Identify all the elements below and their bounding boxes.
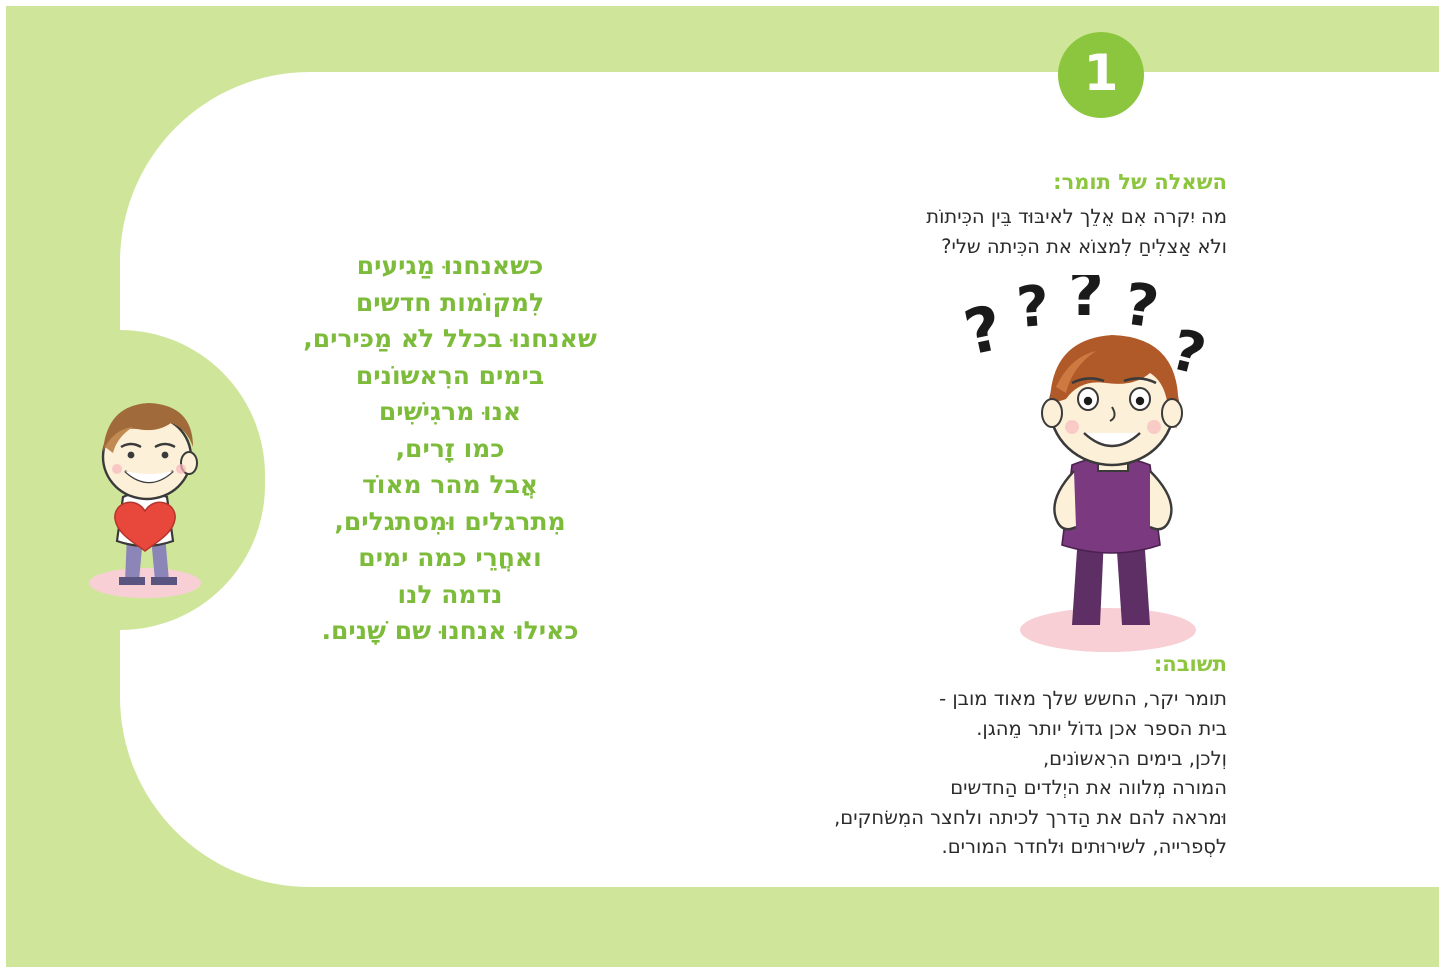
- page-root: 1: [0, 0, 1445, 973]
- poem-line-6: כמו זָרים,: [300, 431, 600, 468]
- boy-with-question-marks-illustration: ? ? ? ? ?: [960, 275, 1270, 665]
- question-line-1: מה יִקרה אִם אֵלֵך לאיבּוּד בֵּין הכִּית…: [687, 202, 1227, 231]
- poem-line-8: מִתרגלים וּמִסתגלים,: [300, 504, 600, 541]
- boy-holding-heart-illustration: [55, 385, 235, 605]
- page-edge-bottom: [0, 967, 1445, 973]
- answer-line-1: תומר יקר, החשש שלך מאוד מובן -: [607, 684, 1227, 714]
- page-number-badge-label: 1: [1084, 48, 1119, 98]
- poem-line-7: אֲבל מהר מאוֹד: [300, 467, 600, 504]
- answer-line-3: וְלכן, בימים הרִאשוֹנים,: [607, 744, 1227, 774]
- page-number-badge: 1: [1058, 32, 1144, 118]
- poem-line-10: נדמה לנו: [300, 577, 600, 614]
- question-line-2: ולֹא אַצלִיחַ לִמצוֹא את הכִּיתה שלי?: [687, 232, 1227, 261]
- poem-line-9: ואחֲרֵי כמה ימים: [300, 540, 600, 577]
- answer-line-6: לסְפרייה, לשירוּתים וּלחדר המורים.: [607, 832, 1227, 862]
- page-edge-left: [0, 0, 6, 973]
- svg-text:?: ?: [1068, 275, 1104, 330]
- answer-block: תשובה: תומר יקר, החשש שלך מאוד מובן - בי…: [607, 650, 1227, 862]
- answer-line-4: המורה מְלווה את היְלדים הַחדשים: [607, 773, 1227, 803]
- question-block: השאלה של תומר: מה יִקרה אִם אֵלֵך לאיבּו…: [687, 168, 1227, 261]
- poem-line-2: לִמקוֹמות חדשים: [300, 285, 600, 322]
- answer-line-2: בית הספר אכן גדוֹל יותר מֵהגן.: [607, 714, 1227, 744]
- poem-line-4: בימים הרִאשוֹנים: [300, 358, 600, 395]
- answer-heading: תשובה:: [607, 650, 1227, 678]
- poem-block: כשאנחנוּ מַגיעים לִמקוֹמות חדשים שאנחנוּ…: [300, 248, 600, 650]
- poem-line-3: שאנחנוּ בכלל לֹא מַכּירים,: [300, 321, 600, 358]
- question-heading: השאלה של תומר:: [687, 168, 1227, 196]
- poem-line-5: אנוּ מרגִישִׁים: [300, 394, 600, 431]
- svg-text:?: ?: [1120, 275, 1163, 342]
- svg-text:?: ?: [960, 291, 1008, 370]
- poem-line-11: כאילוּ אנחנוּ שם שָׁנים.: [300, 613, 600, 650]
- svg-text:?: ?: [1014, 275, 1051, 341]
- page-edge-top: [0, 0, 1445, 6]
- answer-line-5: וּמראה להם את הַדרך לכיתה ולחצר המִשׂחקי…: [607, 803, 1227, 833]
- poem-line-1: כשאנחנוּ מַגיעים: [300, 248, 600, 285]
